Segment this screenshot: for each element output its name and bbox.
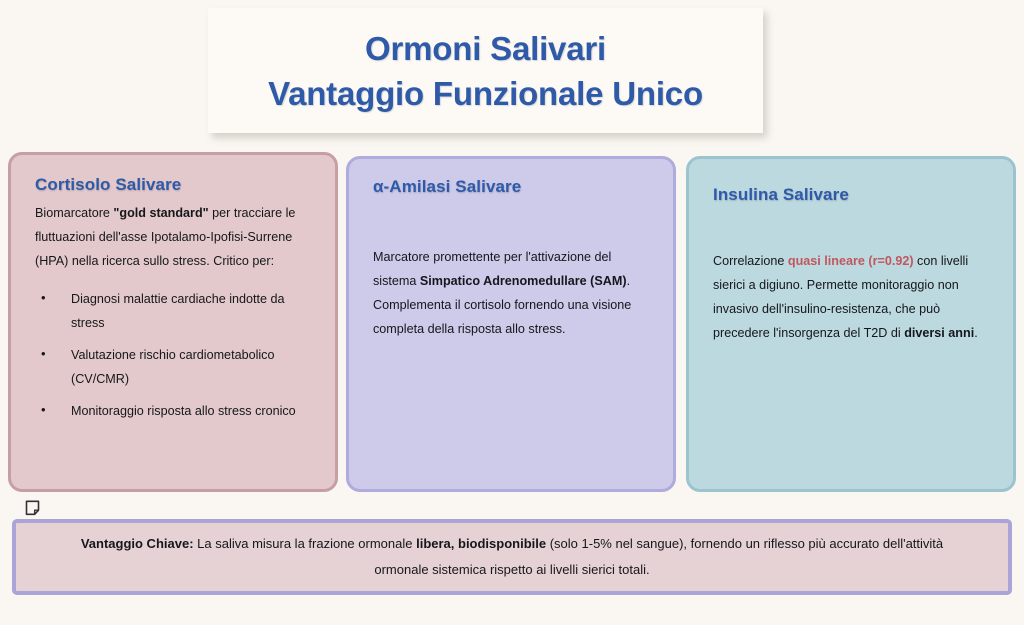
cards-row: Cortisolo Salivare Biomarcatore "gold st… (0, 152, 1024, 497)
page-title-card: Ormoni Salivari Vantaggio Funzionale Uni… (208, 8, 763, 133)
card-title: α-Amilasi Salivare (373, 177, 653, 197)
key-advantage-text: Vantaggio Chiave: La saliva misura la fr… (56, 531, 968, 583)
list-item: Valutazione rischio cardiometabolico (CV… (35, 343, 315, 391)
card-title: Cortisolo Salivare (35, 175, 315, 195)
page-title-line-2: Vantaggio Funzionale Unico (268, 71, 703, 116)
card-body: Correlazione quasi lineare (r=0.92) con … (713, 249, 993, 345)
card-body: Biomarcatore "gold standard" per traccia… (35, 201, 315, 273)
key-advantage-banner: Vantaggio Chiave: La saliva misura la fr… (12, 519, 1012, 595)
card-bullet-list: Diagnosi malattie cardiache indotte da s… (35, 287, 315, 423)
card-body: Marcatore promettente per l'attivazione … (373, 245, 653, 341)
list-item: Diagnosi malattie cardiache indotte da s… (35, 287, 315, 335)
card-cortisolo-salivare: Cortisolo Salivare Biomarcatore "gold st… (8, 152, 338, 492)
list-item: Monitoraggio risposta allo stress cronic… (35, 399, 315, 423)
card-insulina-salivare: Insulina Salivare Correlazione quasi lin… (686, 156, 1016, 492)
card-title: Insulina Salivare (713, 185, 993, 205)
card-alfa-amilasi-salivare: α-Amilasi Salivare Marcatore promettente… (346, 156, 676, 492)
page-title-line-1: Ormoni Salivari (365, 26, 606, 71)
note-icon (25, 500, 40, 516)
